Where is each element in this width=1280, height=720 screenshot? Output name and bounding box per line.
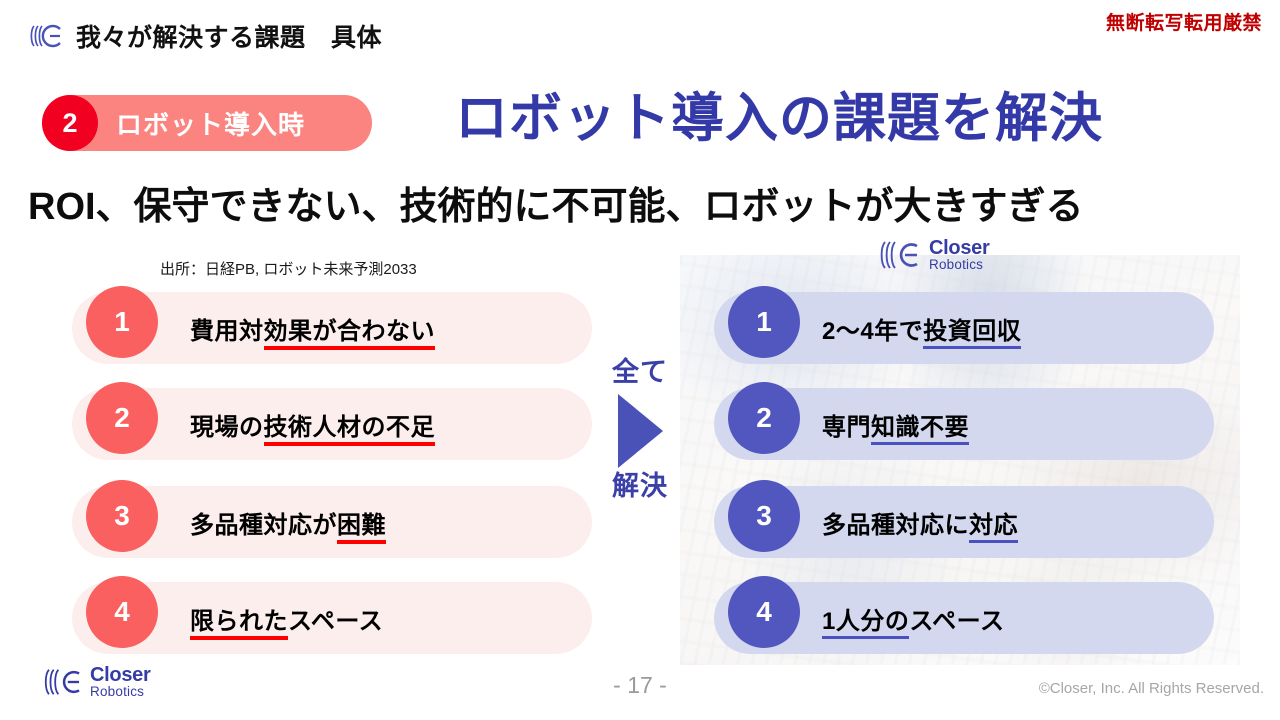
list-item[interactable]: 3 多品種対応に対応 (714, 486, 1214, 558)
confidential-notice: 無断転写転用厳禁 (1106, 8, 1262, 35)
slide-header: 我々が解決する課題 具体 (30, 18, 382, 54)
brand-wordmark: Closer Robotics (929, 238, 989, 272)
list-item[interactable]: 3 多品種対応が困難 (72, 486, 592, 558)
list-item[interactable]: 4 限られたスペース (72, 582, 592, 654)
item-label: 多品種対応が困難 (190, 505, 386, 540)
item-number: 3 (86, 480, 158, 552)
item-number: 2 (86, 382, 158, 454)
section-badge: 2 ロボット導入時 (42, 95, 372, 151)
transition-arrow-group: 全て 解決 (600, 358, 680, 501)
item-number: 4 (728, 576, 800, 648)
item-number: 1 (728, 286, 800, 358)
item-number: 4 (86, 576, 158, 648)
subtitle: ROI、保守できない、技術的に不可能、ロボットが大きすぎる (28, 175, 1084, 230)
item-label: 2〜4年で投資回収 (822, 311, 1021, 346)
item-number: 1 (86, 286, 158, 358)
list-item[interactable]: 1 2〜4年で投資回収 (714, 292, 1214, 364)
item-number: 2 (728, 382, 800, 454)
closer-swirl-icon (880, 238, 922, 272)
main-title: ロボット導入の課題を解決 (455, 92, 1103, 145)
brand-name: Closer (929, 238, 989, 258)
item-label: 多品種対応に対応 (822, 505, 1018, 540)
arrow-top-label: 全て (600, 358, 680, 388)
copyright-notice: ©Closer, Inc. All Rights Reserved. (1039, 680, 1264, 697)
list-item[interactable]: 4 1人分のスペース (714, 582, 1214, 654)
right-triangle-arrow-icon (618, 394, 663, 468)
list-item[interactable]: 2 専門知識不要 (714, 388, 1214, 460)
brand-subname: Robotics (929, 258, 989, 272)
closer-swirl-icon (30, 23, 64, 49)
list-item[interactable]: 1 費用対効果が合わない (72, 292, 592, 364)
item-number: 3 (728, 480, 800, 552)
list-item[interactable]: 2 現場の技術人材の不足 (72, 388, 592, 460)
section-badge-number: 2 (42, 95, 98, 151)
item-label: 現場の技術人材の不足 (190, 407, 435, 442)
item-label: 1人分のスペース (822, 601, 1004, 636)
item-label: 費用対効果が合わない (190, 311, 435, 346)
page-title: 我々が解決する課題 具体 (76, 18, 382, 54)
panel-brand-logo: Closer Robotics (880, 238, 989, 272)
item-label: 限られたスペース (190, 601, 383, 636)
arrow-bottom-label: 解決 (600, 472, 680, 502)
slide-canvas: 我々が解決する課題 具体 無断転写転用厳禁 2 ロボット導入時 ロボット導入の課… (0, 0, 1280, 720)
section-badge-label: ロボット導入時 (116, 105, 305, 142)
source-note: 出所：日経PB, ロボット未来予測2033 (160, 258, 417, 279)
item-label: 専門知識不要 (822, 407, 969, 442)
